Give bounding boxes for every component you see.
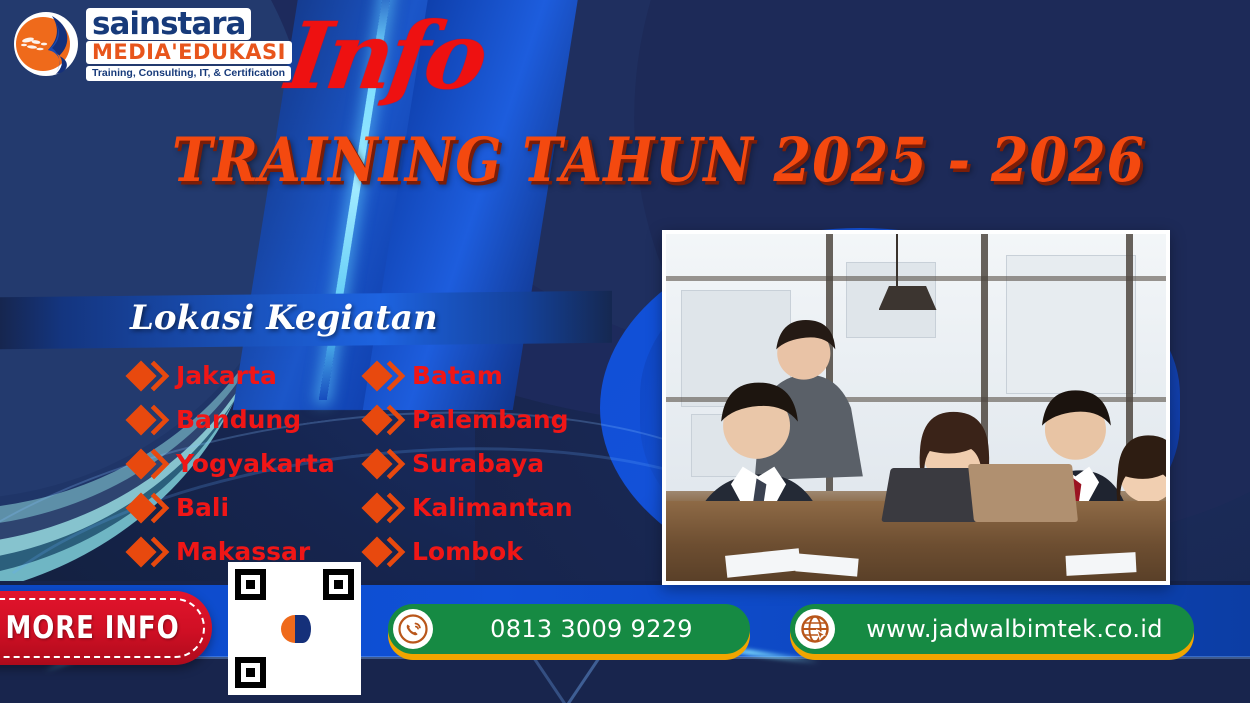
list-item[interactable]: Kalimantan <box>366 490 573 525</box>
city-label: Yogyakarta <box>176 451 335 476</box>
laptop <box>968 464 1078 522</box>
paper-document <box>1066 552 1137 576</box>
diamond-chevron-icon <box>130 493 166 523</box>
globe-cursor-icon <box>795 609 835 649</box>
qr-finder-icon <box>235 657 266 688</box>
city-label: Lombok <box>412 539 523 564</box>
team-meeting-photo <box>662 230 1170 585</box>
city-label: Bali <box>176 495 229 520</box>
list-item[interactable]: Bali <box>130 490 342 525</box>
brand-logo: sainstara MEDIA'EDUKASI Training, Consul… <box>12 8 292 81</box>
logo-tagline: Training, Consulting, IT, & Certificatio… <box>86 66 291 81</box>
qr-finder-icon <box>323 569 354 600</box>
diamond-chevron-icon <box>366 493 402 523</box>
qr-center-logo-icon <box>278 612 312 646</box>
logo-subtitle: MEDIA'EDUKASI <box>86 41 292 64</box>
phone-number: 0813 3009 9229 <box>464 615 719 643</box>
diamond-chevron-icon <box>366 449 402 479</box>
city-label: Batam <box>412 363 503 388</box>
list-item[interactable]: Bandung <box>130 402 342 437</box>
qr-code[interactable] <box>228 562 361 695</box>
diamond-chevron-icon <box>130 405 166 435</box>
city-label: Bandung <box>176 407 301 432</box>
diamond-chevron-icon <box>366 537 402 567</box>
phone-contact-pill[interactable]: 0813 3009 9229 <box>388 604 750 654</box>
city-label: Jakarta <box>176 363 277 388</box>
locations-column-right: Batam Palembang Surabaya Kalimantan Lomb… <box>366 358 573 569</box>
list-item[interactable]: Lombok <box>366 534 573 569</box>
qr-pattern <box>235 569 354 688</box>
footer-dark-bar <box>0 657 1250 703</box>
diamond-chevron-icon <box>130 537 166 567</box>
city-label: Makassar <box>176 539 310 564</box>
logo-wordmark: sainstara MEDIA'EDUKASI Training, Consul… <box>86 8 292 81</box>
diamond-chevron-icon <box>366 361 402 391</box>
list-item[interactable]: Surabaya <box>366 446 573 481</box>
photo-content <box>666 234 1166 581</box>
logo-name: sainstara <box>86 8 251 40</box>
sainstara-flame-map-logo-icon <box>12 10 80 78</box>
locations-heading: Lokasi Kegiatan <box>130 298 438 338</box>
website-url: www.jadwalbimtek.co.id <box>840 615 1189 643</box>
city-label: Palembang <box>412 407 569 432</box>
more-info-label: MORE INFO <box>5 610 179 646</box>
diamond-chevron-icon <box>366 405 402 435</box>
info-script-word: Info <box>280 2 490 110</box>
list-item[interactable]: Palembang <box>366 402 573 437</box>
locations-list: Jakarta Bandung Yogyakarta Bali Makassar <box>130 358 573 569</box>
promo-banner: sainstara MEDIA'EDUKASI Training, Consul… <box>0 0 1250 703</box>
qr-finder-icon <box>235 569 266 600</box>
website-contact-pill[interactable]: www.jadwalbimtek.co.id <box>790 604 1194 654</box>
list-item[interactable]: Yogyakarta <box>130 446 342 481</box>
locations-column-left: Jakarta Bandung Yogyakarta Bali Makassar <box>130 358 342 569</box>
more-info-button[interactable]: MORE INFO <box>0 591 212 665</box>
diamond-chevron-icon <box>130 361 166 391</box>
city-label: Kalimantan <box>412 495 573 520</box>
city-label: Surabaya <box>412 451 544 476</box>
page-title: TRAINING TAHUN 2025 - 2026 <box>172 124 1145 196</box>
diamond-chevron-icon <box>130 449 166 479</box>
list-item[interactable]: Batam <box>366 358 573 393</box>
phone-call-icon <box>393 609 433 649</box>
list-item[interactable]: Jakarta <box>130 358 342 393</box>
